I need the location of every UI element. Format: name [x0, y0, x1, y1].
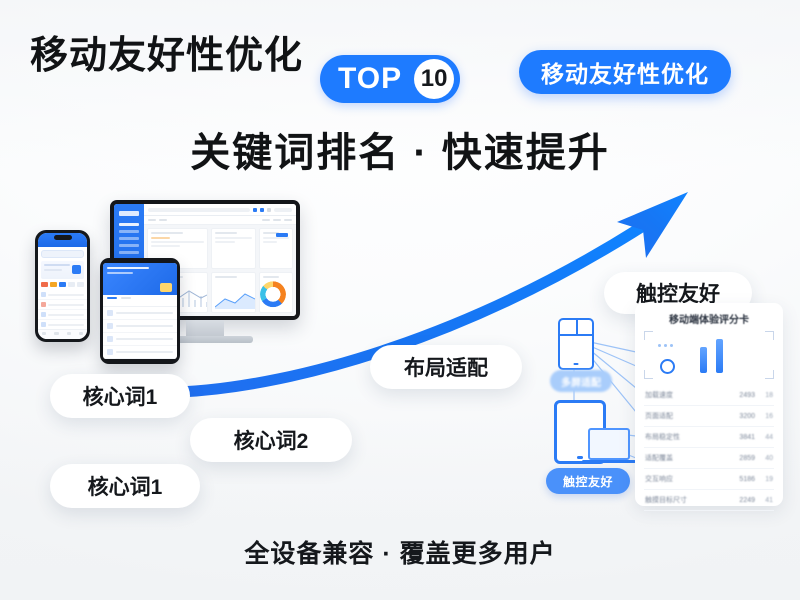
row-score: 18	[759, 392, 773, 399]
row-name: 布局稳定性	[645, 432, 725, 442]
score-card-title: 移动端体验评分卡	[644, 311, 774, 326]
row-score: 44	[759, 434, 773, 441]
row-name: 页面适配	[645, 411, 725, 421]
row-name: 加载速度	[645, 390, 725, 400]
score-card-table: 加载速度249318页面适配320016布局稳定性384144适配覆盖28594…	[644, 385, 774, 511]
row-name: 适配覆盖	[645, 453, 725, 463]
phone-divider	[560, 334, 592, 336]
header-blue-pill: 移动友好性优化	[519, 50, 731, 94]
row-score: 41	[759, 497, 773, 504]
mobile-score-panel: 多屏适配 触控友好 移动端体验评分卡 加载速度249318页面适配320016布…	[540, 300, 786, 512]
table-row: 触摸目标尺寸224941	[644, 490, 774, 511]
table-row: 适配覆盖285940	[644, 448, 774, 469]
chart-corner-mark	[765, 331, 774, 340]
score-card-chart	[644, 331, 774, 379]
table-row: 加载速度249318	[644, 385, 774, 406]
chart-corner-mark	[644, 370, 653, 379]
row-value: 3841	[729, 434, 755, 441]
chart-corner-mark	[644, 331, 653, 340]
top-rank-badge: TOP 10	[320, 55, 460, 103]
chart-corner-mark	[765, 370, 774, 379]
row-name: 触摸目标尺寸	[645, 495, 725, 505]
touch-friendly-mini-pill: 触控友好	[546, 468, 630, 494]
table-row: 布局稳定性384144	[644, 427, 774, 448]
top-badge-number: 10	[414, 59, 454, 99]
layout-adapt-pill: 布局适配	[370, 345, 522, 389]
top-badge-label: TOP	[338, 64, 414, 94]
row-value: 5186	[729, 476, 755, 483]
phone-divider	[576, 320, 578, 334]
poster-canvas: 移动友好性优化 TOP 10 移动友好性优化 关键词排名 · 快速提升	[0, 0, 800, 600]
keyword-pill-1: 核心词1	[50, 374, 190, 418]
keyword-pill-2: 核心词2	[190, 418, 352, 462]
row-score: 19	[759, 476, 773, 483]
small-laptop-icon	[588, 428, 630, 460]
row-value: 2493	[729, 392, 755, 399]
row-value: 2859	[729, 455, 755, 462]
page-title: 移动友好性优化	[30, 24, 303, 79]
keyword-pill-3: 核心词1	[50, 464, 200, 508]
small-phone-icon	[558, 318, 594, 370]
row-score: 16	[759, 413, 773, 420]
row-name: 交互响应	[645, 474, 725, 484]
phone-notch	[54, 235, 72, 240]
chart-bars	[666, 335, 756, 373]
bottom-caption: 全设备兼容 · 覆盖更多用户	[0, 534, 800, 570]
table-row: 页面适配320016	[644, 406, 774, 427]
score-card: 移动端体验评分卡 加载速度249318页面适配320016布局稳定性384144…	[635, 303, 783, 506]
row-value: 2249	[729, 497, 755, 504]
table-row: 交互响应518619	[644, 469, 774, 490]
multi-screen-pill: 多屏适配	[550, 370, 612, 392]
row-value: 3200	[729, 413, 755, 420]
row-score: 40	[759, 455, 773, 462]
